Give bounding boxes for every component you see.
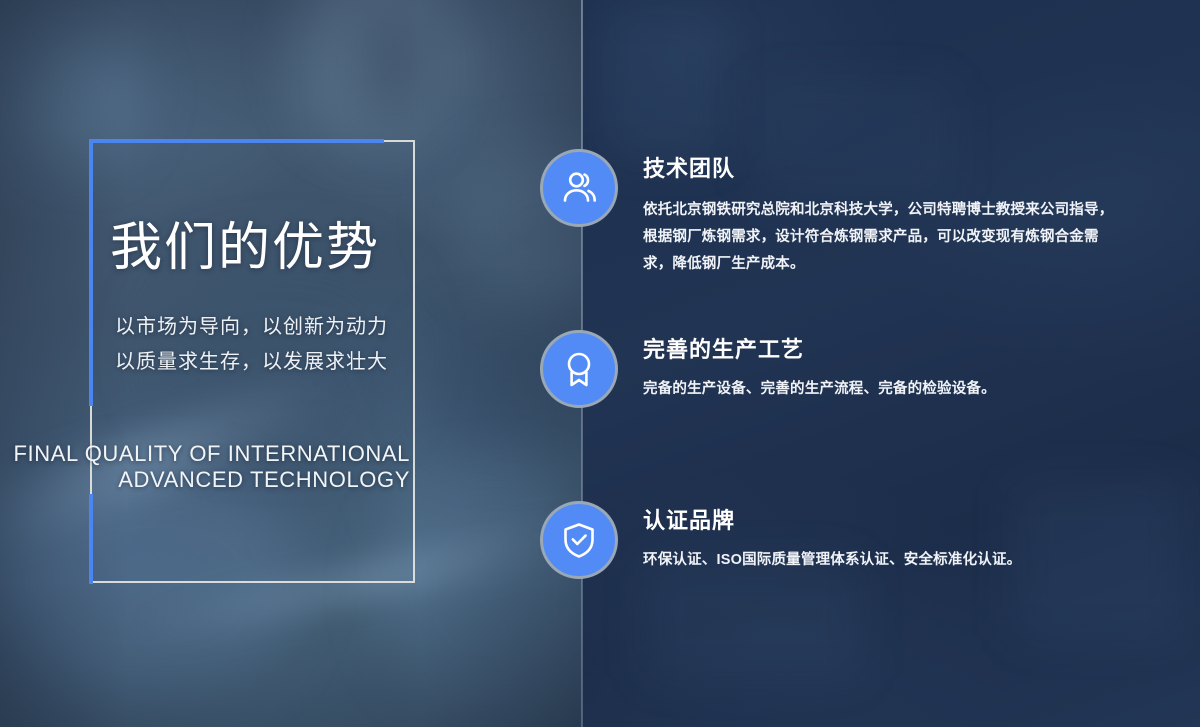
feature-description: 依托北京钢铁研究总院和北京科技大学，公司特聘博士教授来公司指导，根据钢厂炼钢需求… xyxy=(643,197,1121,277)
frame-accent-top-edge xyxy=(90,139,384,143)
feature-text-block: 认证品牌 环保认证、ISO国际质量管理体系认证、安全标准化认证。 xyxy=(643,501,1121,574)
feature-title: 技术团队 xyxy=(643,151,1121,183)
feature-title: 完善的生产工艺 xyxy=(643,332,1121,364)
slide-headline: 我们的优势 xyxy=(110,222,410,274)
award-medal-icon xyxy=(540,330,618,408)
feature-text-block: 完善的生产工艺 完备的生产设备、完善的生产流程、完备的检验设备。 xyxy=(643,330,1121,403)
slide-canvas: 我们的优势 以市场为导向，以创新为动力 以质量求生存，以发展求壮大 FINAL … xyxy=(0,0,1200,727)
background-texture-shape xyxy=(603,10,723,160)
frame-accent-left-edge-upper xyxy=(89,139,93,406)
feature-title: 认证品牌 xyxy=(643,503,1121,535)
frame-accent-left-edge-lower xyxy=(89,494,93,584)
feature-item-production-process: 完善的生产工艺 完备的生产设备、完善的生产流程、完备的检验设备。 xyxy=(540,330,1140,408)
shield-check-icon xyxy=(540,501,618,579)
users-group-icon xyxy=(540,149,618,227)
feature-item-technical-team: 技术团队 依托北京钢铁研究总院和北京科技大学，公司特聘博士教授来公司指导，根据钢… xyxy=(540,149,1140,277)
slide-subtitle-line-2: 以质量求生存，以发展求壮大 xyxy=(115,345,415,374)
slide-english-tagline-line-2: ADVANCED TECHNOLOGY xyxy=(0,467,410,493)
slide-english-tagline-line-1: FINAL QUALITY OF INTERNATIONAL xyxy=(0,441,410,467)
feature-description: 完备的生产设备、完善的生产流程、完备的检验设备。 xyxy=(643,376,1121,403)
slide-subtitle-line-1: 以市场为导向，以创新为动力 xyxy=(115,310,415,339)
feature-text-block: 技术团队 依托北京钢铁研究总院和北京科技大学，公司特聘博士教授来公司指导，根据钢… xyxy=(643,149,1121,277)
feature-item-certified-brand: 认证品牌 环保认证、ISO国际质量管理体系认证、安全标准化认证。 xyxy=(540,501,1140,579)
feature-description: 环保认证、ISO国际质量管理体系认证、安全标准化认证。 xyxy=(643,547,1121,574)
